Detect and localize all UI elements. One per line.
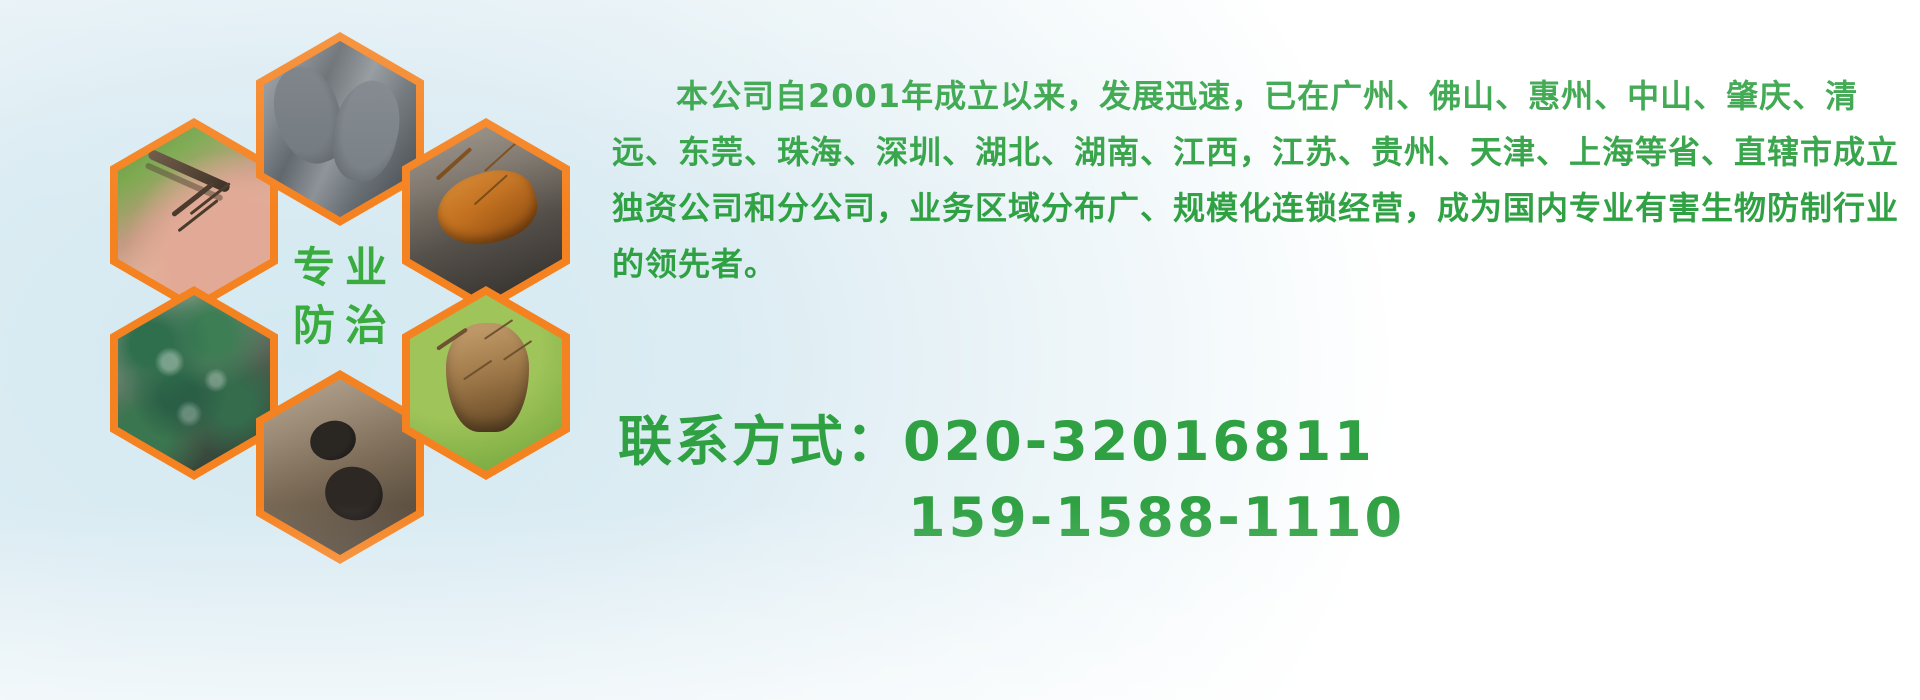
flies-photo-icon: [118, 295, 270, 471]
contact-line-primary[interactable]: 联系方式：020-32016811: [618, 404, 1908, 480]
hexagon-image-cluster: 专业 防治: [110, 10, 580, 570]
cockroach-photo-icon: [410, 127, 562, 303]
hex-inner-ant: [264, 379, 416, 555]
hex-tile-mosquito: [110, 118, 278, 312]
hex-tile-stinkbug: [402, 286, 570, 480]
promo-banner: 专业 防治 本公司自2001年成立以来，发展迅速，已在广州、佛山、惠州、中山、肇…: [0, 0, 1920, 700]
company-intro-paragraph: 本公司自2001年成立以来，发展迅速，已在广州、佛山、惠州、中山、肇庆、清远、东…: [612, 68, 1912, 292]
contact-line-secondary[interactable]: 159-1588-1110: [618, 480, 1908, 556]
slogan-line-1: 专业: [283, 247, 397, 289]
hex-tile-flies: [110, 286, 278, 480]
hex-inner-flies: [118, 295, 270, 471]
hex-center-slogan: 专业 防治: [256, 200, 424, 394]
rat-photo-icon: [264, 41, 416, 217]
contact-block: 联系方式：020-32016811 159-1588-1110: [618, 404, 1908, 556]
hex-inner-cockroach: [410, 127, 562, 303]
hex-inner-mosquito: [118, 127, 270, 303]
intro-copy-block: 本公司自2001年成立以来，发展迅速，已在广州、佛山、惠州、中山、肇庆、清远、东…: [612, 36, 1902, 324]
hex-tile-rat: [256, 32, 424, 226]
hex-tile-cockroach: [402, 118, 570, 312]
slogan-line-2: 防治: [283, 305, 397, 347]
ant-photo-icon: [264, 379, 416, 555]
hex-tile-ant: [256, 370, 424, 564]
mosquito-photo-icon: [118, 127, 270, 303]
hex-inner-rat: [264, 41, 416, 217]
hex-inner-stinkbug: [410, 295, 562, 471]
stinkbug-photo-icon: [410, 295, 562, 471]
